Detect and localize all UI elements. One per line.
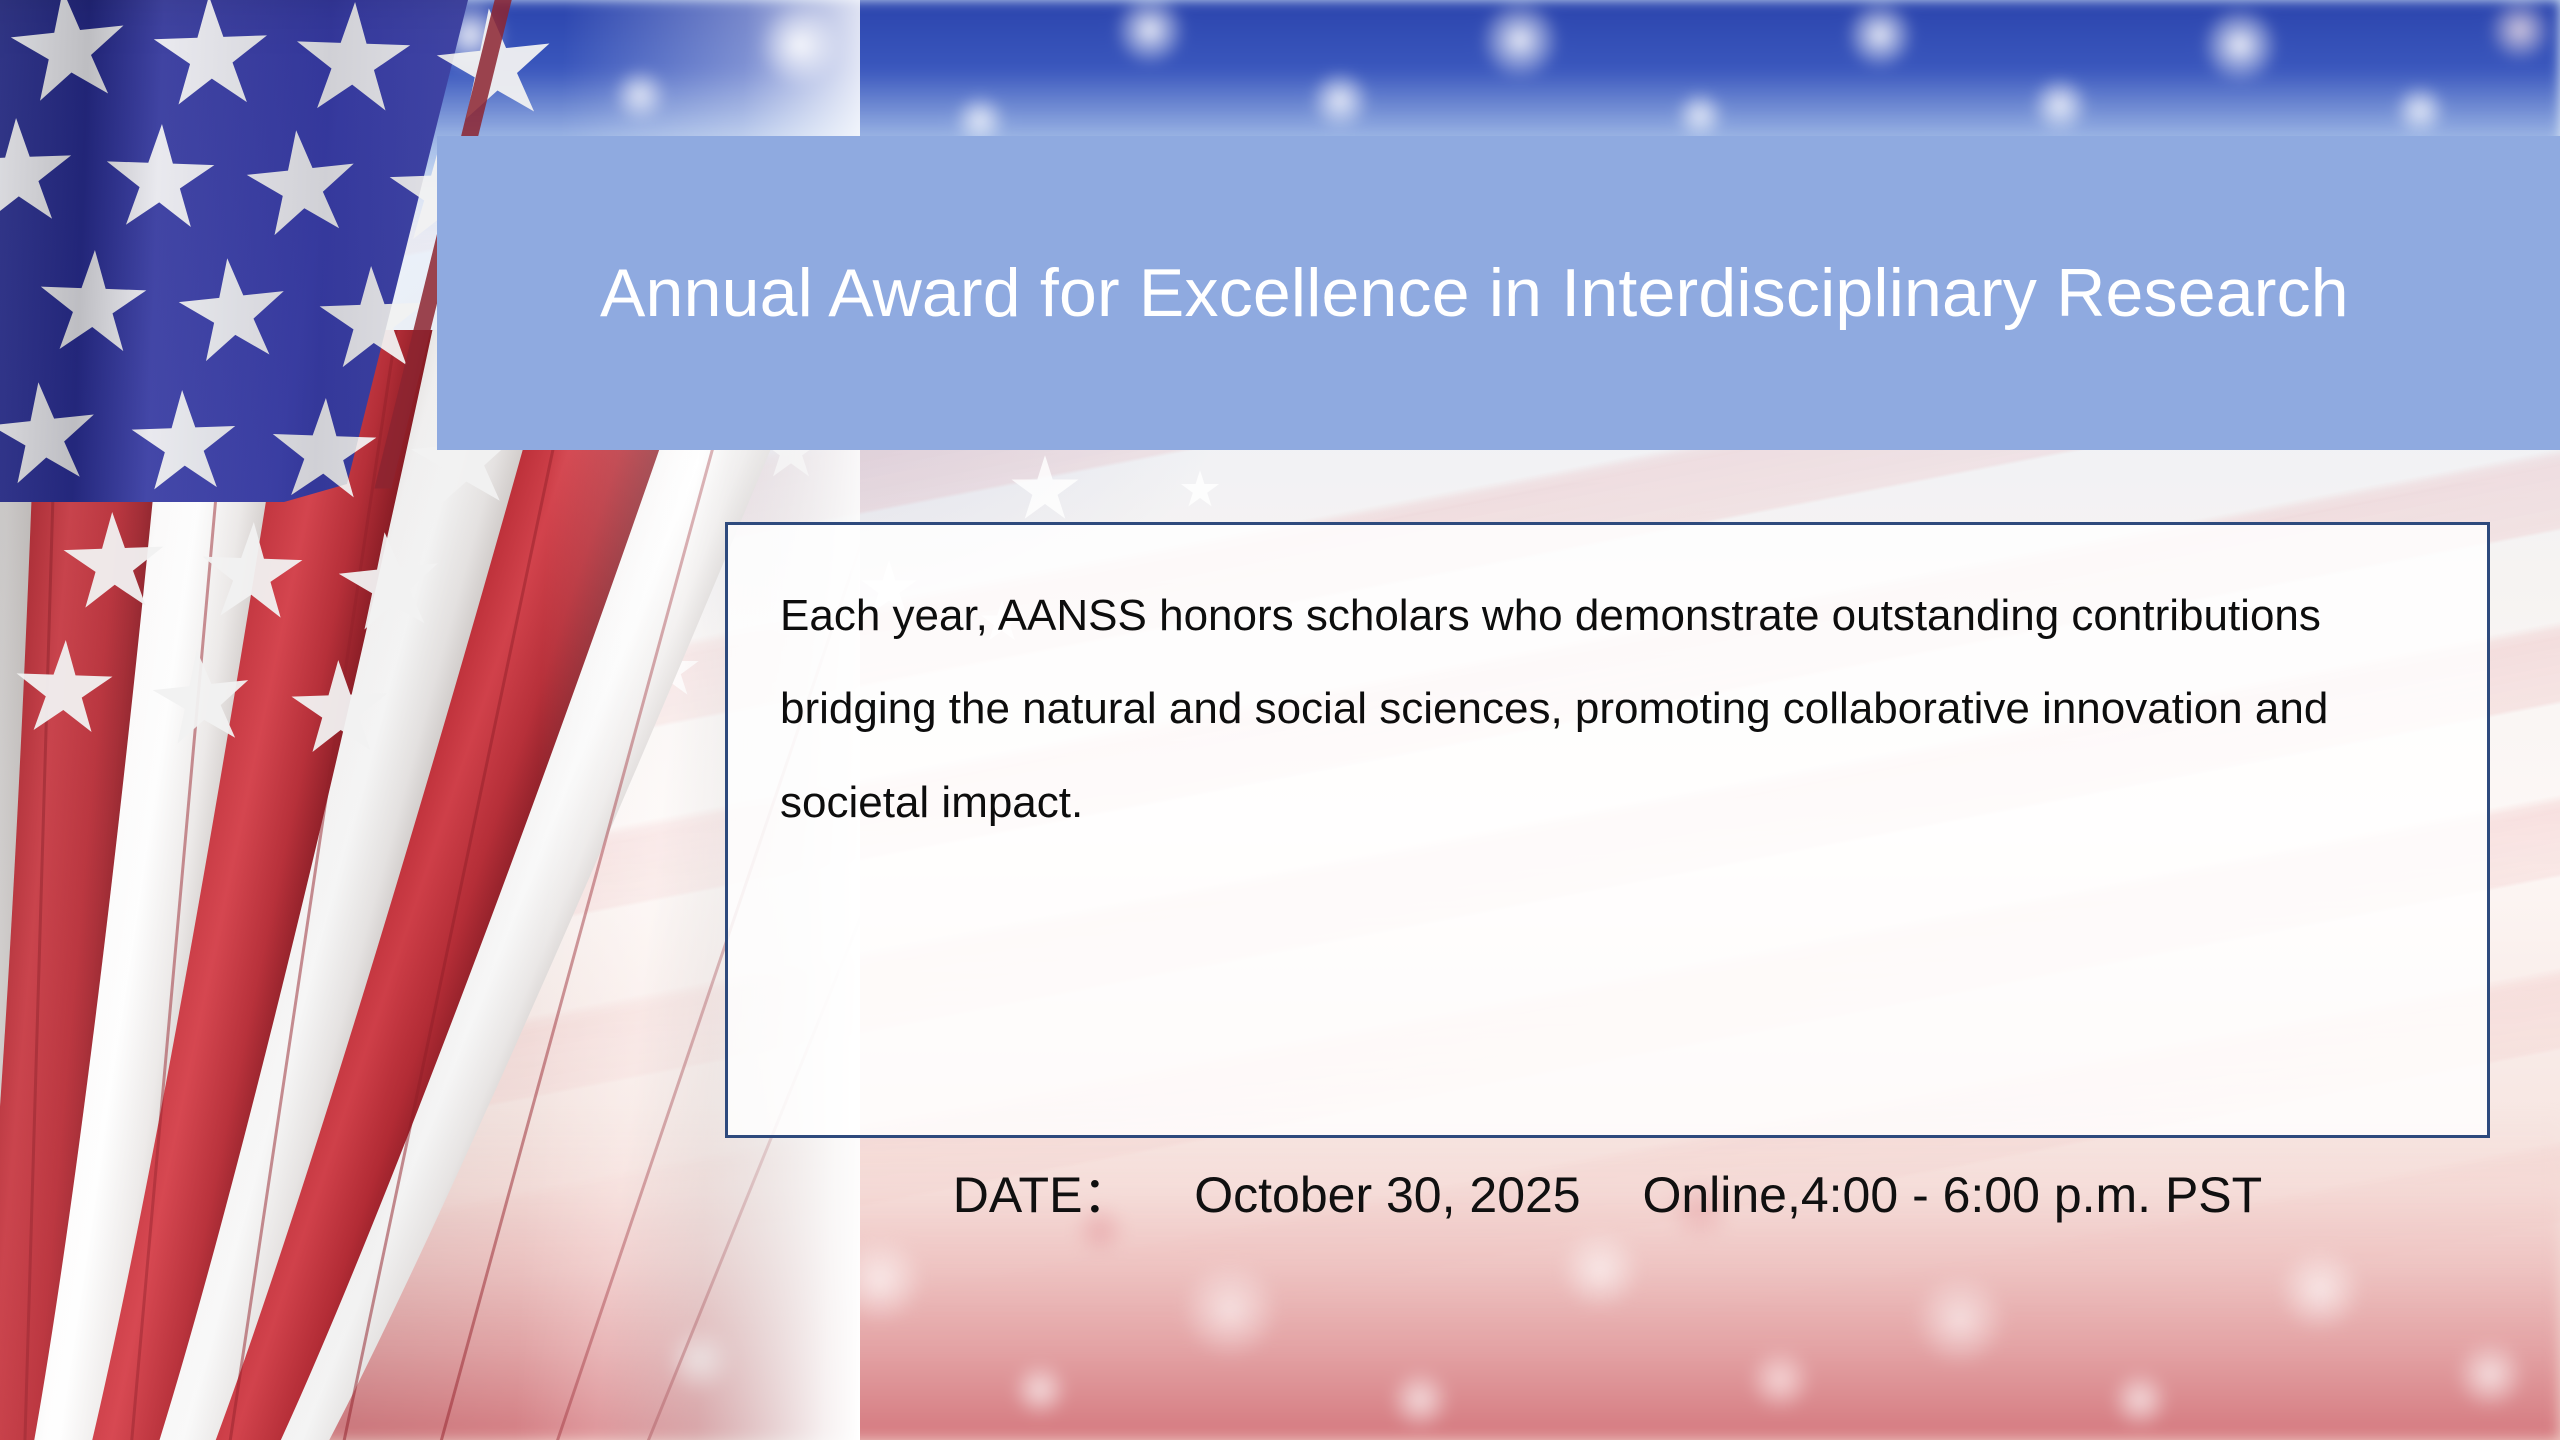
date-value: October 30, 2025 <box>1194 1167 1580 1223</box>
date-time-line: DATE： October 30, 2025 Online,4:00 - 6:0… <box>725 1155 2490 1227</box>
date-label: DATE： <box>953 1167 1133 1223</box>
description-line-3: societal impact. <box>780 756 2435 849</box>
description-line-2: bridging the natural and social sciences… <box>780 662 2435 755</box>
description-textbox: Each year, AANSS honors scholars who dem… <box>725 522 2490 1138</box>
slide-canvas: Annual Award for Excellence in Interdisc… <box>0 0 2560 1440</box>
title-banner: Annual Award for Excellence in Interdisc… <box>437 136 2560 450</box>
event-time: Online,4:00 - 6:00 p.m. PST <box>1642 1167 2262 1223</box>
page-title: Annual Award for Excellence in Interdisc… <box>600 254 2349 332</box>
description-line-1: Each year, AANSS honors scholars who dem… <box>780 569 2435 662</box>
